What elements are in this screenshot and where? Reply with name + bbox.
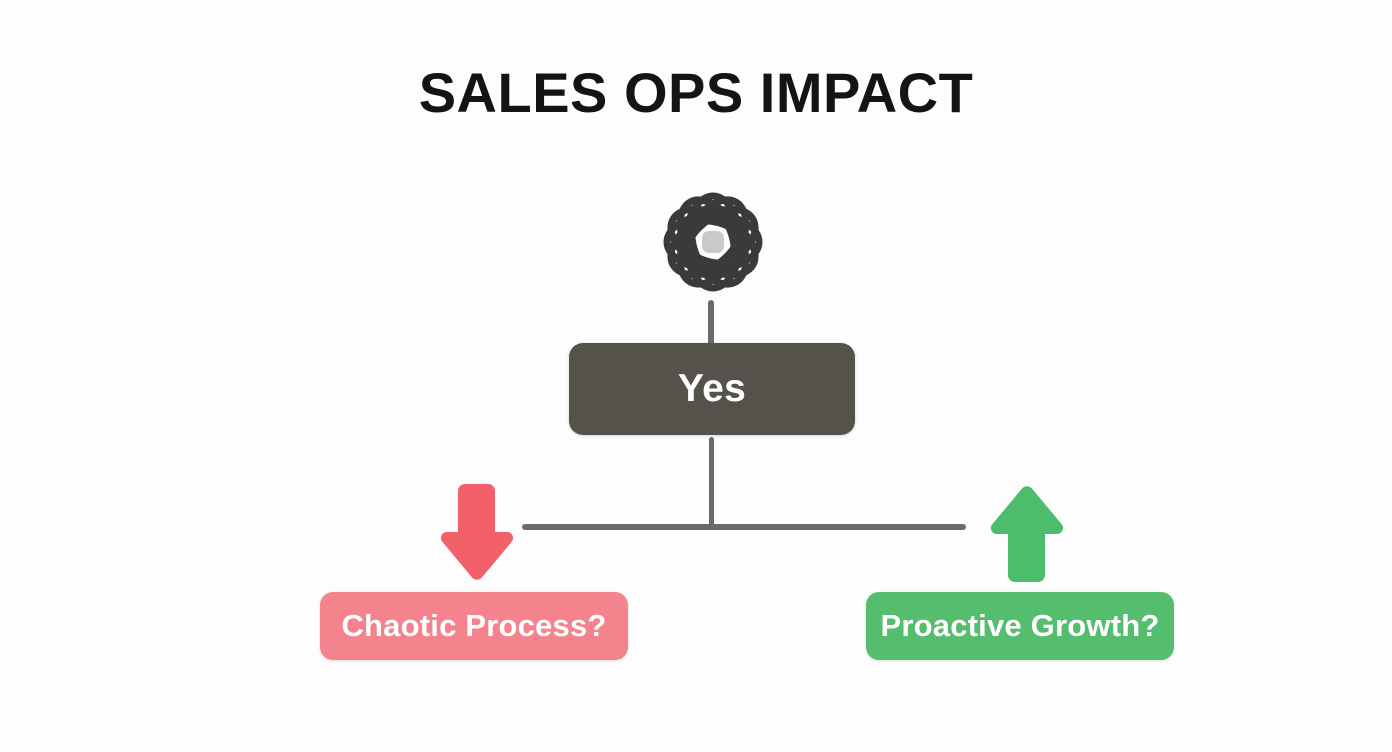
outcome-pill-chaotic[interactable]: Chaotic Process?: [320, 592, 628, 660]
arrow-up-icon: [978, 478, 1068, 588]
outcome-pill-chaotic-label: Chaotic Process?: [341, 608, 606, 644]
connector-icon-to-decision: [708, 300, 714, 348]
connector-branch-horizontal: [522, 524, 966, 530]
connector-decision-stem: [709, 437, 714, 527]
tangled-scribble-rosette-icon: [645, 182, 781, 302]
page-title: SALES OPS IMPACT: [0, 62, 1392, 124]
decision-node-label: Yes: [678, 367, 746, 411]
decision-node[interactable]: Yes: [569, 343, 855, 435]
diagram-canvas: SALES OPS IMPACT Yes: [0, 0, 1392, 752]
outcome-pill-growth-label: Proactive Growth?: [880, 608, 1159, 644]
arrow-down-icon: [428, 478, 518, 588]
outcome-pill-growth[interactable]: Proactive Growth?: [866, 592, 1174, 660]
